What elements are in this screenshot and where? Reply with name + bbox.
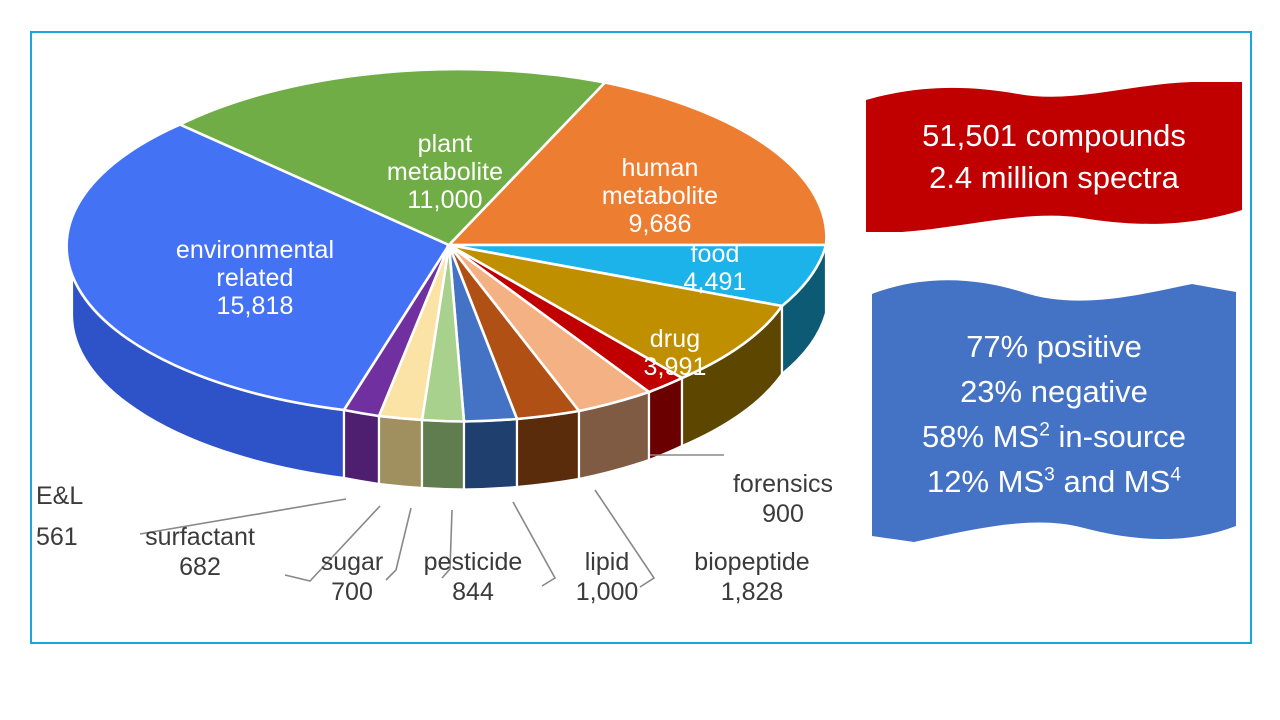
blue-banner-line-4-superscript-2: 4 [1170, 465, 1181, 486]
blue-banner-line-3-prefix: 58% MS [922, 419, 1039, 454]
callout-biopeptide: biopeptide 1,828 [672, 548, 832, 607]
blue-banner-line-3-superscript: 2 [1039, 420, 1050, 441]
callout-lipid: lipid 1,000 [552, 548, 662, 607]
callout-pesticide-value: 844 [408, 578, 538, 608]
blue-banner-line-1: 77% positive [862, 324, 1246, 369]
callout-pesticide-name: pesticide [408, 548, 538, 578]
blue-banner-line-4-prefix: 12% MS [927, 464, 1044, 499]
callout-el-name: E&L [36, 482, 146, 512]
callout-lipid-value: 1,000 [552, 578, 662, 608]
blue-banner-line-3-suffix: in-source [1050, 419, 1186, 454]
red-banner-text: 51,501 compounds 2.4 million spectra [862, 115, 1246, 199]
blue-banner-line-4-middle: and MS [1055, 464, 1170, 499]
slide-canvas: plant metabolite 11,000 human metabolite… [0, 0, 1280, 720]
callout-surfactant-value: 682 [120, 553, 280, 583]
blue-banner-line-2: 23% negative [862, 369, 1246, 414]
callout-sugar-value: 700 [307, 578, 397, 608]
callout-forensics-name: forensics [718, 470, 848, 500]
callout-forensics-value: 900 [718, 500, 848, 530]
callout-surfactant: surfactant 682 [120, 523, 280, 582]
callout-sugar: sugar 700 [307, 548, 397, 607]
blue-banner-text: 77% positive 23% negative 58% MS2 in-sou… [862, 324, 1246, 505]
blue-banner-line-4-superscript-1: 3 [1044, 465, 1055, 486]
callout-pesticide: pesticide 844 [408, 548, 538, 607]
blue-banner-line-4: 12% MS3 and MS4 [862, 459, 1246, 504]
callout-lipid-name: lipid [552, 548, 662, 578]
callout-sugar-name: sugar [307, 548, 397, 578]
callout-biopeptide-value: 1,828 [672, 578, 832, 608]
red-banner-line-2: 2.4 million spectra [862, 157, 1246, 199]
callout-biopeptide-name: biopeptide [672, 548, 832, 578]
callout-forensics: forensics 900 [718, 470, 848, 529]
red-ribbon-banner: 51,501 compounds 2.4 million spectra [862, 78, 1246, 236]
callout-surfactant-name: surfactant [120, 523, 280, 553]
callout-el: E&L [36, 482, 146, 512]
blue-ribbon-banner: 77% positive 23% negative 58% MS2 in-sou… [862, 278, 1246, 550]
red-banner-line-1: 51,501 compounds [862, 115, 1246, 157]
blue-banner-line-3: 58% MS2 in-source [862, 414, 1246, 459]
